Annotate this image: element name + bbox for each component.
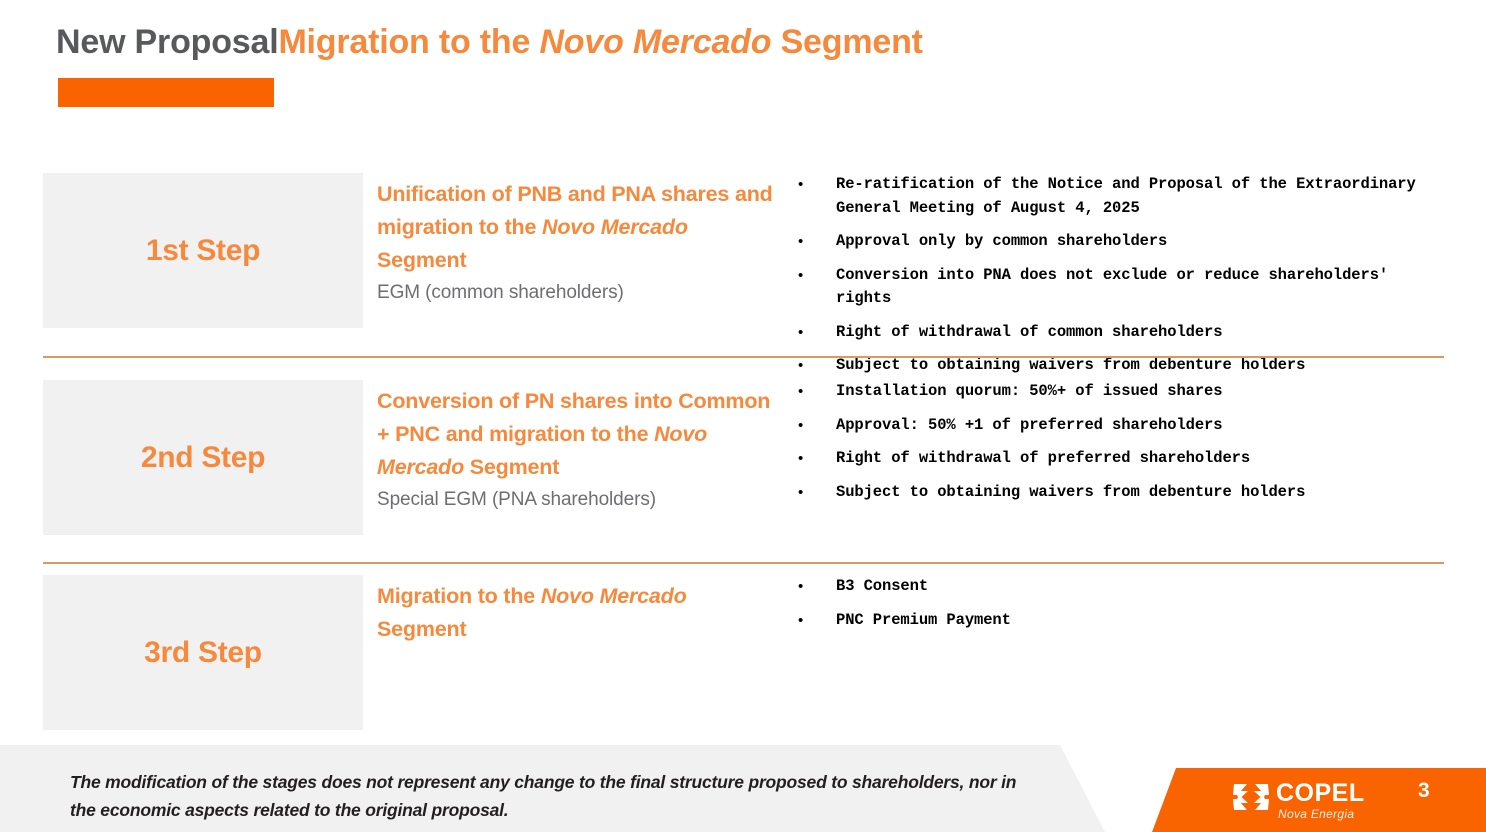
step-subtitle: EGM (common shareholders): [377, 278, 777, 308]
bullet-text: Conversion into PNA does not exclude or …: [836, 264, 1452, 311]
footer-note-text: The modification of the stages does not …: [70, 768, 1020, 824]
bullet-text: Right of withdrawal of preferred shareho…: [836, 447, 1452, 471]
list-item: • Conversion into PNA does not exclude o…: [792, 264, 1452, 311]
step-heading: Unification of PNB and PNA shares and mi…: [377, 178, 777, 308]
section-divider: [43, 562, 1444, 564]
bullet-icon: •: [792, 609, 836, 632]
list-item: • Right of withdrawal of preferred share…: [792, 447, 1452, 471]
step-heading: Migration to the Novo Mercado Segment: [377, 580, 777, 647]
bullet-icon: •: [792, 264, 836, 287]
copel-logo-mark-icon: [1232, 782, 1270, 812]
list-item: • Subject to obtaining waivers from debe…: [792, 481, 1452, 505]
bullet-text: PNC Premium Payment: [836, 609, 1452, 633]
step-bullet-list: • B3 Consent • PNC Premium Payment: [792, 575, 1452, 642]
page-number: 3: [1418, 779, 1430, 803]
step-heading-main: Conversion of PN shares into Common + PN…: [377, 385, 777, 484]
step-badge: 3rd Step: [43, 575, 363, 730]
step-row: 3rd Step Migration to the Novo Mercado S…: [0, 575, 1486, 730]
step-heading-after: Segment: [377, 617, 466, 641]
copel-tagline: Nova Energia: [1278, 807, 1354, 821]
bullet-text: Right of withdrawal of common shareholde…: [836, 321, 1452, 345]
step-row: 1st Step Unification of PNB and PNA shar…: [0, 173, 1486, 328]
step-badge-label: 1st Step: [146, 234, 260, 268]
step-badge-label: 2nd Step: [141, 441, 265, 475]
step-row: 2nd Step Conversion of PN shares into Co…: [0, 380, 1486, 535]
bullet-icon: •: [792, 321, 836, 344]
list-item: • Re-ratification of the Notice and Prop…: [792, 173, 1452, 220]
bullet-icon: •: [792, 173, 836, 196]
step-bullet-list: • Installation quorum: 50%+ of issued sh…: [792, 380, 1452, 514]
bullet-text: Approval only by common shareholders: [836, 230, 1452, 254]
list-item: • Right of withdrawal of common sharehol…: [792, 321, 1452, 345]
bullet-icon: •: [792, 230, 836, 253]
bullet-icon: •: [792, 481, 836, 504]
step-heading-after: Segment: [377, 248, 466, 272]
step-subtitle: Special EGM (PNA shareholders): [377, 485, 777, 515]
step-badge: 1st Step: [43, 173, 363, 328]
step-badge-label: 3rd Step: [144, 636, 262, 670]
step-heading-after: Segment: [464, 455, 559, 479]
slide: New ProposalMigration to the Novo Mercad…: [0, 0, 1486, 832]
list-item: • Approval: 50% +1 of preferred sharehol…: [792, 414, 1452, 438]
step-heading-main: Unification of PNB and PNA shares and mi…: [377, 178, 777, 277]
bullet-icon: •: [792, 414, 836, 437]
title-lead: New Proposal: [56, 23, 278, 61]
bullet-text: Installation quorum: 50%+ of issued shar…: [836, 380, 1452, 404]
step-badge: 2nd Step: [43, 380, 363, 535]
step-heading-italic: Novo Mercado: [541, 584, 687, 608]
step-heading: Conversion of PN shares into Common + PN…: [377, 385, 777, 515]
bullet-text: Re-ratification of the Notice and Propos…: [836, 173, 1452, 220]
bullet-icon: •: [792, 447, 836, 470]
bullet-icon: •: [792, 380, 836, 403]
title-rest-after: Segment: [771, 23, 922, 61]
list-item: • B3 Consent: [792, 575, 1452, 599]
step-heading-before: Conversion of PN shares into Common + PN…: [377, 389, 770, 446]
copel-wordmark: COPEL: [1276, 779, 1365, 808]
copel-logo: COPEL Nova Energia: [1232, 778, 1372, 826]
step-heading-main: Migration to the Novo Mercado Segment: [377, 580, 777, 646]
bullet-icon: •: [792, 575, 836, 598]
title-accent-bar: [58, 78, 274, 107]
bullet-text: B3 Consent: [836, 575, 1452, 599]
list-item: • PNC Premium Payment: [792, 609, 1452, 633]
step-heading-before: Migration to the: [377, 584, 541, 608]
bullet-text: Subject to obtaining waivers from debent…: [836, 481, 1452, 505]
page-title: New ProposalMigration to the Novo Mercad…: [56, 16, 1436, 72]
bullet-text: Approval: 50% +1 of preferred shareholde…: [836, 414, 1452, 438]
list-item: • Installation quorum: 50%+ of issued sh…: [792, 380, 1452, 404]
section-divider: [43, 356, 1444, 358]
list-item: • Approval only by common shareholders: [792, 230, 1452, 254]
title-rest-before: Migration to the: [278, 23, 539, 61]
title-italic-term: Novo Mercado: [539, 23, 771, 61]
step-heading-italic: Novo Mercado: [542, 215, 688, 239]
